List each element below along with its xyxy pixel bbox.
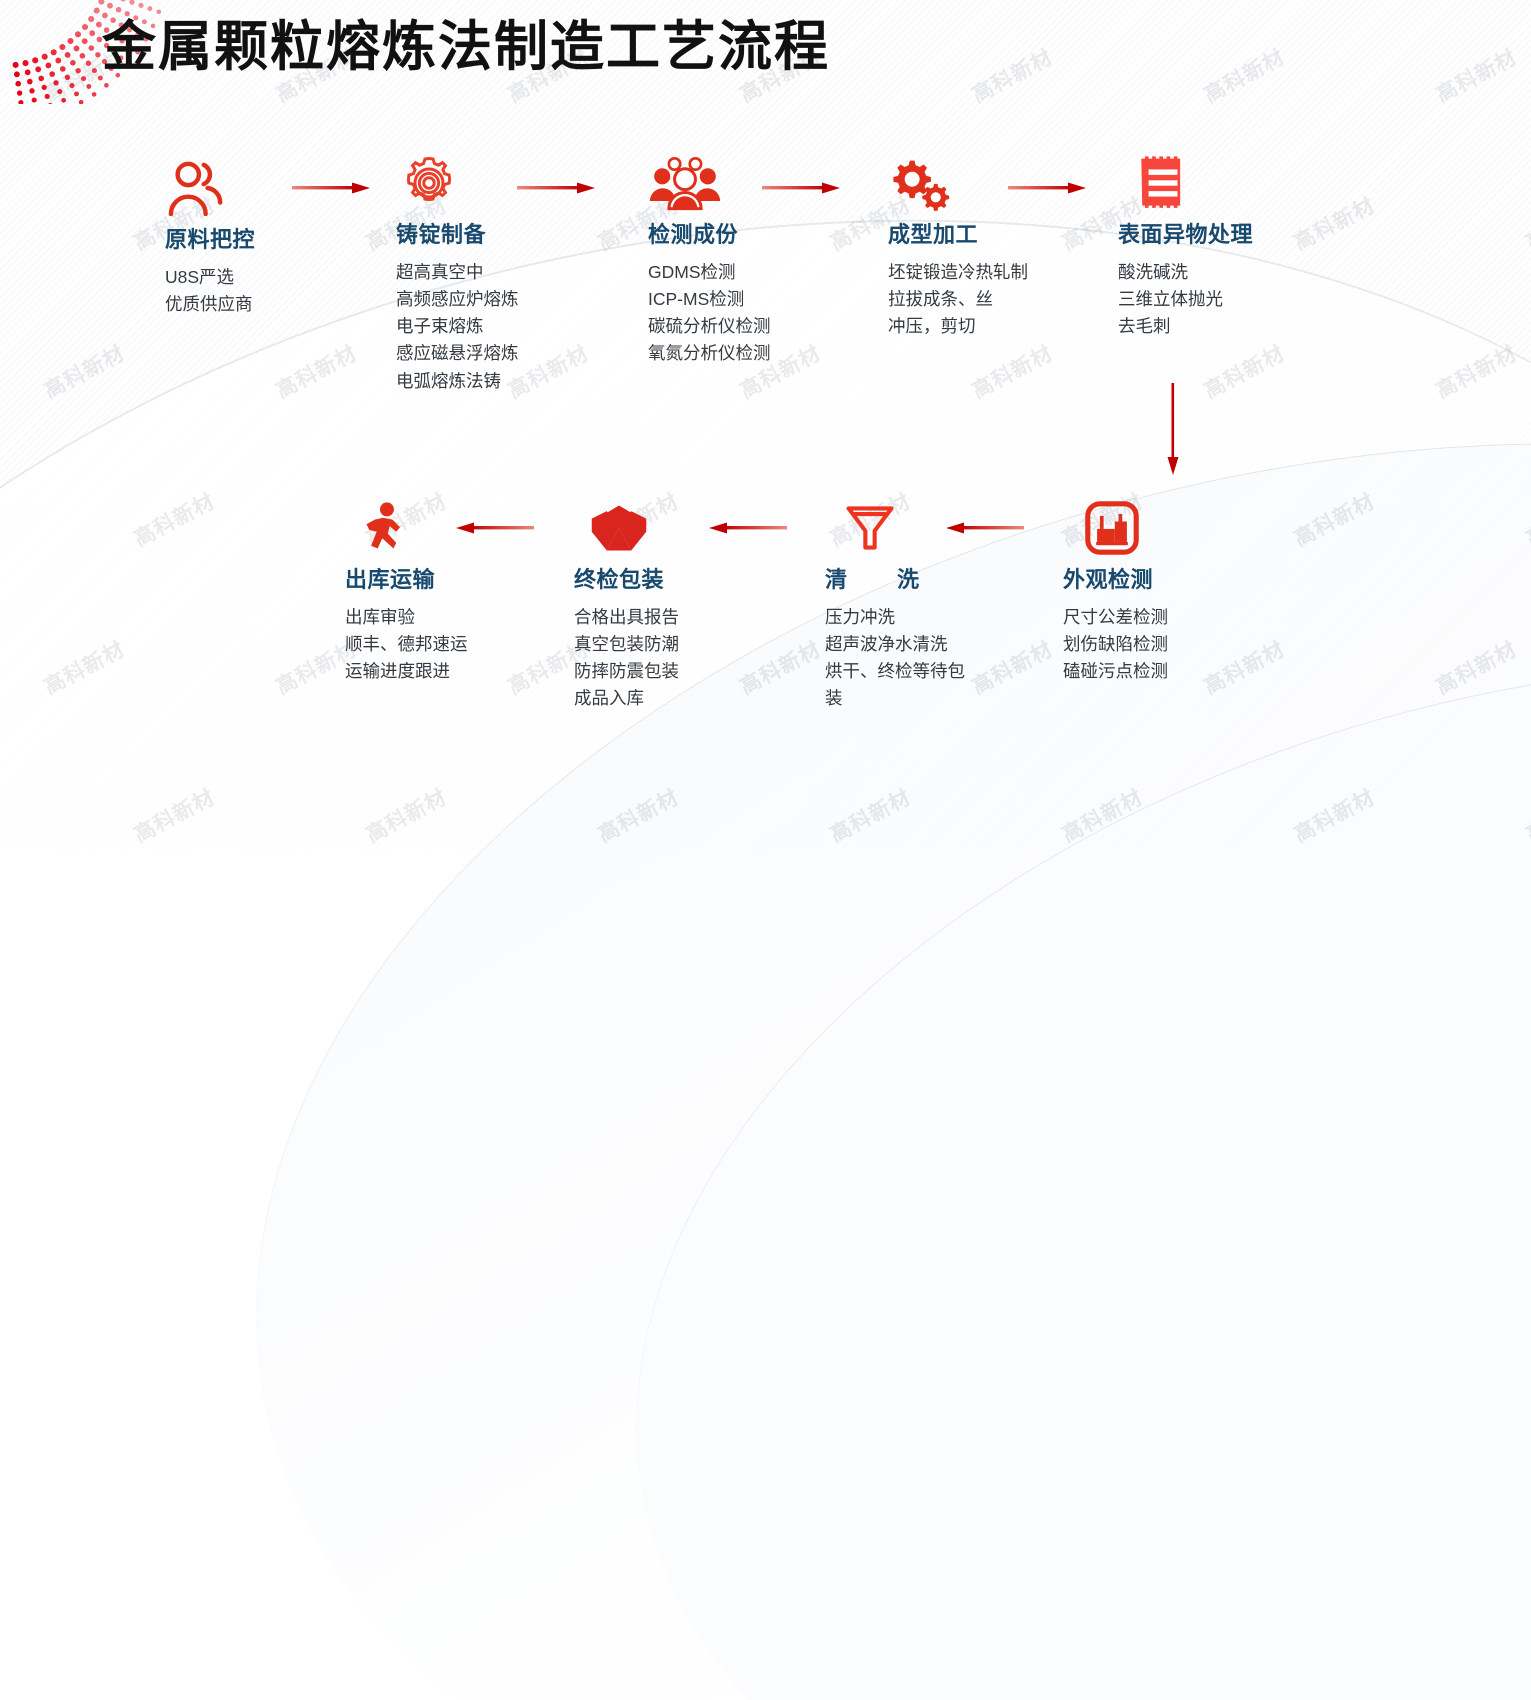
arrow-2-3-icon <box>517 181 597 195</box>
step-line: 氧氮分析仪检测 <box>648 340 771 367</box>
two-people-icon <box>165 160 227 216</box>
step-lines: 酸洗碱洗 三维立体抛光 去毛刺 <box>1118 259 1253 340</box>
step-lines: 超高真空中 高频感应炉熔炼 电子束熔炼 感应磁悬浮熔炼 电弧熔炼法铸 <box>396 259 519 395</box>
step-ingot-preparation[interactable]: 铸锭制备 超高真空中 高频感应炉熔炼 电子束熔炼 感应磁悬浮熔炼 电弧熔炼法铸 <box>396 155 519 395</box>
step-line: 冲压，剪切 <box>888 313 1028 340</box>
step-line: 压力冲洗 <box>825 604 975 631</box>
step-lines: GDMS检测 ICP-MS检测 碳硫分析仪检测 氧氮分析仪检测 <box>648 259 771 368</box>
step-title: 原料把控 <box>165 222 255 254</box>
step-line: 尺寸公差检测 <box>1063 604 1168 631</box>
document-icon <box>1136 155 1190 211</box>
step-line: 酸洗碱洗 <box>1118 259 1253 286</box>
running-person-icon <box>359 500 413 556</box>
open-box-icon <box>588 500 650 556</box>
step-lines: U8S严选 优质供应商 <box>165 264 255 318</box>
step-lines: 坯锭锻造冷热轧制 拉拔成条、丝 冲压，剪切 <box>888 259 1028 340</box>
step-raw-material-control[interactable]: 原料把控 U8S严选 优质供应商 <box>165 160 255 318</box>
step-lines: 出库审验 顺丰、德邦速运 运输进度跟进 <box>345 604 468 685</box>
step-appearance-inspection[interactable]: 外观检测 尺寸公差检测 划伤缺陷检测 磕碰污点检测 <box>1063 500 1168 685</box>
step-title: 外观检测 <box>1063 562 1168 594</box>
gear-icon <box>398 155 460 211</box>
funnel-icon <box>843 500 897 556</box>
step-title: 检测成份 <box>648 217 771 249</box>
step-cleaning[interactable]: 清 洗 压力冲洗 超声波净水清洗 烘干、终检等待包装 <box>825 500 975 713</box>
step-line: 坯锭锻造冷热轧制 <box>888 259 1028 286</box>
step-line: 三维立体抛光 <box>1118 286 1253 313</box>
step-line: GDMS检测 <box>648 259 771 286</box>
step-line: 防摔防震包装 <box>574 658 679 685</box>
arrow-5-6-icon <box>1166 383 1180 478</box>
step-line: 感应磁悬浮熔炼 <box>396 340 519 367</box>
step-line: 碳硫分析仪检测 <box>648 313 771 340</box>
step-line: ICP-MS检测 <box>648 286 771 313</box>
step-line: U8S严选 <box>165 264 255 291</box>
factory-icon <box>1085 500 1139 556</box>
step-forming-processing[interactable]: 成型加工 坯锭锻造冷热轧制 拉拔成条、丝 冲压，剪切 <box>888 155 1028 340</box>
step-line: 去毛刺 <box>1118 313 1253 340</box>
step-title: 成型加工 <box>888 217 1028 249</box>
step-title: 清 洗 <box>825 562 975 594</box>
step-line: 优质供应商 <box>165 291 255 318</box>
step-composition-testing[interactable]: 检测成份 GDMS检测 ICP-MS检测 碳硫分析仪检测 氧氮分析仪检测 <box>648 155 771 368</box>
step-lines: 尺寸公差检测 划伤缺陷检测 磕碰污点检测 <box>1063 604 1168 685</box>
step-title: 表面异物处理 <box>1118 217 1253 249</box>
step-title: 铸锭制备 <box>396 217 519 249</box>
step-outbound-transport[interactable]: 出库运输 出库审验 顺丰、德邦速运 运输进度跟进 <box>345 500 468 685</box>
arrow-1-2-icon <box>292 181 372 195</box>
step-line: 顺丰、德邦速运 <box>345 631 468 658</box>
step-line: 电弧熔炼法铸 <box>396 368 519 395</box>
step-line: 合格出具报告 <box>574 604 679 631</box>
step-surface-foreign-matter-treatment[interactable]: 表面异物处理 酸洗碱洗 三维立体抛光 去毛刺 <box>1118 155 1253 340</box>
step-line: 超高真空中 <box>396 259 519 286</box>
step-line: 成品入库 <box>574 685 679 712</box>
arrow-3-4-icon <box>762 181 842 195</box>
page-title: 金属颗粒熔炼法制造工艺流程 <box>102 2 830 81</box>
step-line: 运输进度跟进 <box>345 658 468 685</box>
step-title: 出库运输 <box>345 562 468 594</box>
step-lines: 合格出具报告 真空包装防潮 防摔防震包装 成品入库 <box>574 604 679 713</box>
step-line: 真空包装防潮 <box>574 631 679 658</box>
step-line: 划伤缺陷检测 <box>1063 631 1168 658</box>
step-final-inspection-packaging[interactable]: 终检包装 合格出具报告 真空包装防潮 防摔防震包装 成品入库 <box>574 500 679 713</box>
step-line: 高频感应炉熔炼 <box>396 286 519 313</box>
step-line: 烘干、终检等待包装 <box>825 658 975 712</box>
process-flow: 原料把控 U8S严选 优质供应商 铸锭制备 超高真空中 高频感应炉熔炼 电子束熔… <box>0 0 1531 850</box>
cogs-icon <box>888 155 954 211</box>
step-line: 磕碰污点检测 <box>1063 658 1168 685</box>
step-line: 电子束熔炼 <box>396 313 519 340</box>
step-title: 终检包装 <box>574 562 679 594</box>
people-group-icon <box>648 155 722 211</box>
arrow-4-5-icon <box>1008 181 1088 195</box>
step-line: 超声波净水清洗 <box>825 631 975 658</box>
arrow-7-8-icon <box>703 521 787 535</box>
step-line: 出库审验 <box>345 604 468 631</box>
step-line: 拉拔成条、丝 <box>888 286 1028 313</box>
step-lines: 压力冲洗 超声波净水清洗 烘干、终检等待包装 <box>825 604 975 713</box>
